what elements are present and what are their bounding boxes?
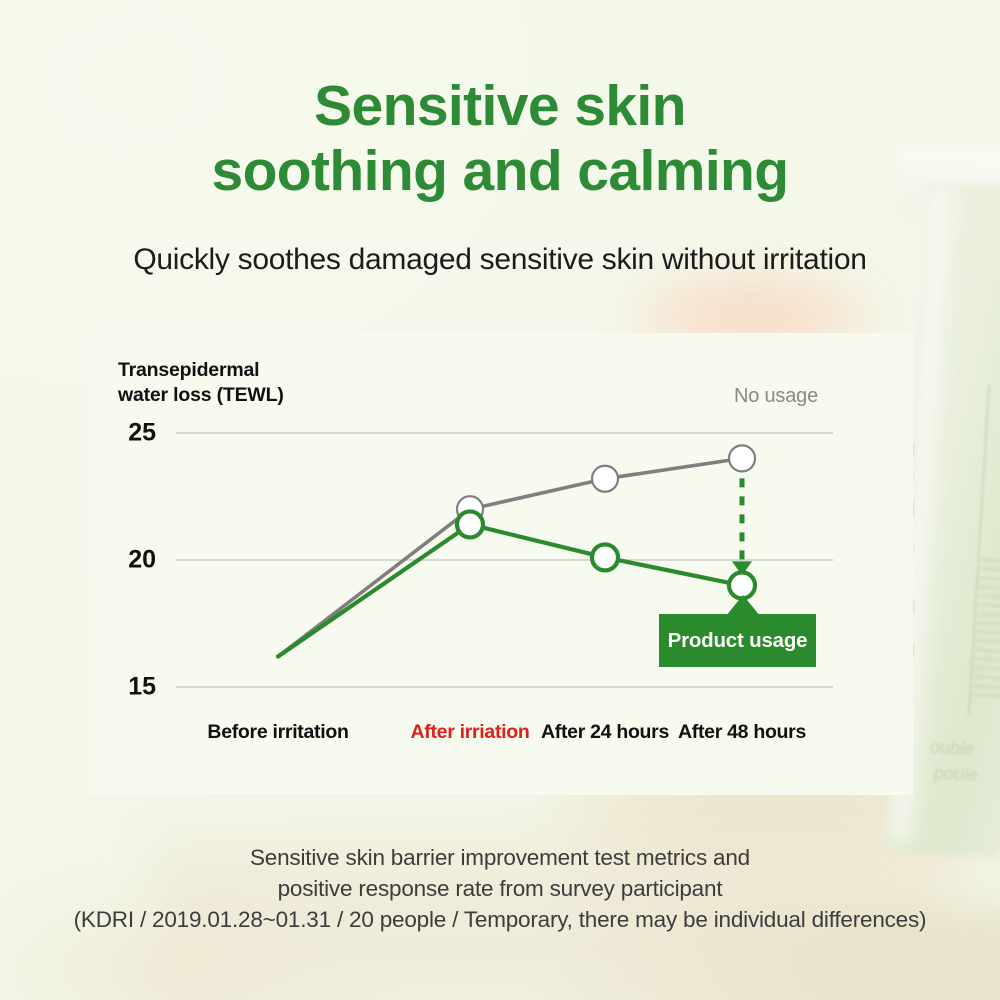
x-axis-labels: Before irritationAfter irriationAfter 24… [88, 721, 913, 761]
chart-series-markers [457, 445, 755, 598]
x-label-2: After 24 hours [541, 721, 669, 744]
x-label-0: Before irritation [207, 721, 348, 744]
y-tick-25: 25 [96, 419, 156, 448]
footnote: Sensitive skin barrier improvement test … [0, 842, 1000, 935]
page-title: Sensitive skin soothing and calming [0, 74, 1000, 204]
x-label-3: After 48 hours [678, 721, 806, 744]
chart-panel: Transepidermal water loss (TEWL) No usag… [88, 333, 913, 795]
page-subtitle: Quickly soothes damaged sensitive skin w… [0, 243, 1000, 277]
page-title-line2: soothing and calming [0, 139, 1000, 204]
page-title-line1: Sensitive skin [314, 74, 686, 138]
callout-pointer-icon [726, 595, 760, 616]
y-tick-15: 15 [96, 673, 156, 702]
footnote-line2: positive response rate from survey parti… [0, 873, 1000, 904]
x-label-1: After irriation [410, 721, 529, 744]
footnote-line3: (KDRI / 2019.01.28~01.31 / 20 people / T… [0, 904, 1000, 935]
y-tick-20: 20 [96, 546, 156, 575]
improvement-arrow-icon [732, 478, 752, 575]
footnote-line1: Sensitive skin barrier improvement test … [0, 842, 1000, 873]
product-usage-callout: Product usage [659, 614, 816, 667]
